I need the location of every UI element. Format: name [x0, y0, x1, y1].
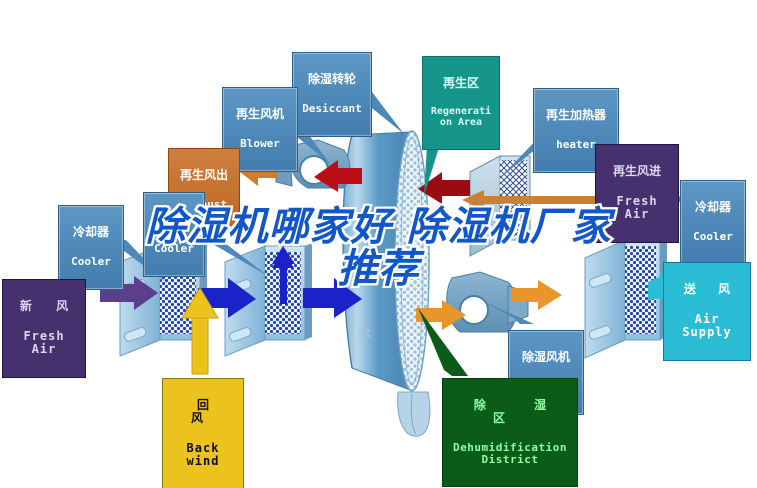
label-desiccant-en: Desiccant: [298, 103, 366, 115]
label-back-wind-en: Back wind: [169, 442, 237, 468]
label-air-supply-cn: 送 风: [670, 283, 744, 296]
faint-watermark: xt: [356, 326, 373, 342]
label-dehumidification-district-en: Dehumidification District: [449, 442, 571, 466]
diagram-canvas: xt 除湿转轮 Desiccant 再生风机 Blower 再生区 Regene…: [0, 0, 757, 488]
label-cooler-right-en: Cooler: [686, 231, 740, 243]
label-air-supply-en: Air Supply: [670, 313, 744, 339]
label-air-supply[interactable]: 送 风 Air Supply: [663, 262, 751, 361]
label-regeneration-area-en: Regenerati on Area: [428, 107, 494, 129]
label-back-wind[interactable]: 回 风 Back wind: [162, 378, 244, 488]
label-back-wind-cn: 回 风: [169, 399, 237, 425]
label-cooler-left-cn: 冷却器: [64, 226, 118, 239]
label-fresh-air[interactable]: 新 风 Fresh Air: [2, 279, 86, 378]
label-cooler-left-en: Cooler: [64, 256, 118, 268]
label-cooler-right[interactable]: 冷却器 Cooler: [680, 180, 746, 265]
label-exhaust-cn: 再生风出: [175, 169, 233, 182]
label-regen-fresh-air-en: Fresh Air: [602, 195, 672, 221]
label-desiccant-cn: 除湿转轮: [298, 73, 366, 86]
label-fresh-air-cn: 新 风: [9, 300, 79, 313]
label-regen-fresh-air[interactable]: 再生风进 Fresh Air: [595, 144, 679, 243]
label-dehumidification-district[interactable]: 除 湿 区 Dehumidification District: [442, 378, 578, 487]
label-regen-heater-cn: 再生加热器: [539, 109, 613, 122]
label-cooler-mid[interactable]: 冷却器 Cooler: [143, 192, 205, 277]
label-regen-fresh-air-cn: 再生风进: [602, 165, 672, 178]
label-regeneration-area-cn: 再生区: [428, 77, 494, 90]
label-cooler-left[interactable]: 冷却器 Cooler: [58, 205, 124, 290]
label-regen-blower-cn: 再生风机: [228, 108, 292, 121]
label-desiccant[interactable]: 除湿转轮 Desiccant: [292, 52, 372, 137]
label-cooler-right-cn: 冷却器: [686, 201, 740, 214]
label-dehum-blower-cn: 除湿风机: [514, 351, 578, 364]
label-regeneration-area[interactable]: 再生区 Regenerati on Area: [422, 56, 500, 150]
label-cooler-mid-en: Cooler: [149, 243, 199, 255]
label-cooler-mid-cn: 冷却器: [149, 213, 199, 226]
label-dehumidification-district-cn: 除 湿 区: [449, 399, 571, 425]
label-fresh-air-en: Fresh Air: [9, 330, 79, 356]
